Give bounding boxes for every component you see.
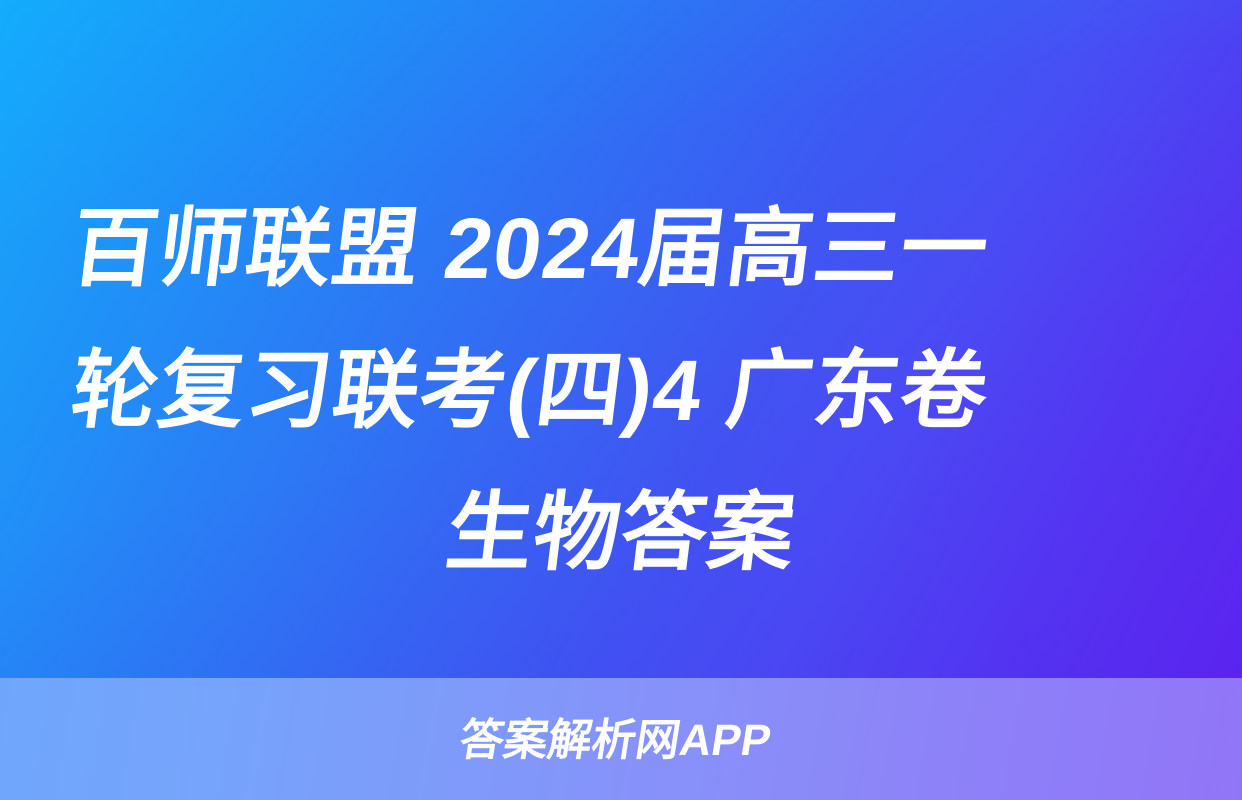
page-title: 百师联盟 2024届高三一 轮复习联考(四)4 广东卷 生物答案 — [0, 178, 1242, 604]
footer-watermark-band: 答案解析网APP — [0, 678, 1242, 800]
hero-gradient-background: 百师联盟 2024届高三一 轮复习联考(四)4 广东卷 生物答案 — [0, 0, 1242, 678]
page-title-line-2: 轮复习联考(四)4 广东卷 — [63, 320, 1178, 462]
page-title-line-3: 生物答案 — [63, 462, 1178, 604]
watermark-label: 答案解析网APP — [456, 717, 774, 765]
page-title-line-1: 百师联盟 2024届高三一 — [63, 178, 1178, 320]
answer-poster: 百师联盟 2024届高三一 轮复习联考(四)4 广东卷 生物答案 答案解析网AP… — [0, 0, 1242, 800]
